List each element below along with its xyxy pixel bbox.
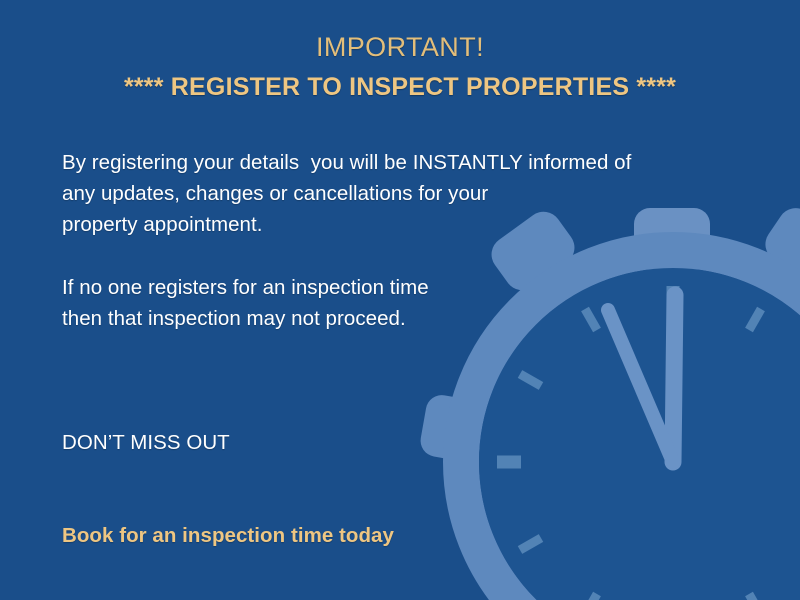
- headline-important: IMPORTANT!: [0, 32, 800, 62]
- paragraph-no-one-registers: If no one registers for an inspection ti…: [62, 272, 582, 334]
- cta-book-inspection: Book for an inspection time today: [62, 520, 532, 551]
- cta-dont-miss-out: DON’T MISS OUT: [62, 427, 532, 458]
- paragraph-registering-details: By registering your details you will be …: [62, 147, 732, 240]
- call-to-action-block: DON’T MISS OUT Book for an inspection ti…: [62, 365, 532, 600]
- headline-register-to-inspect: **** REGISTER TO INSPECT PROPERTIES ****: [0, 74, 800, 102]
- heading-block: IMPORTANT! **** REGISTER TO INSPECT PROP…: [0, 32, 800, 102]
- slide-canvas: IMPORTANT! **** REGISTER TO INSPECT PROP…: [0, 0, 800, 600]
- slide-text-content: IMPORTANT! **** REGISTER TO INSPECT PROP…: [0, 0, 800, 600]
